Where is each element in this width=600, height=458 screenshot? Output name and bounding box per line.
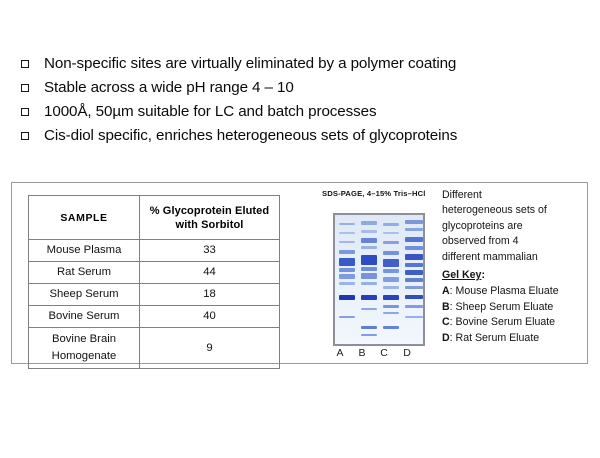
list-item-label: Stable across a wide pH range 4 – 10 [44, 76, 294, 100]
gel-lane-a [339, 215, 355, 344]
list-item: 1000Å, 50µm suitable for LC and batch pr… [18, 100, 578, 124]
glycoprotein-table: SAMPLE % Glycoprotein Eluted with Sorbit… [28, 195, 280, 369]
gel-key-item-c: C: Bovine Serum Eluate [442, 315, 582, 330]
table-row: Mouse Plasma 33 [29, 240, 280, 262]
table-row: Bovine Serum 40 [29, 306, 280, 328]
square-bullet-icon [18, 52, 44, 76]
gel-lane-label-b: B [355, 347, 369, 359]
gel-lane-c [383, 215, 399, 344]
cell-value: 9 [140, 328, 280, 369]
cell-value: 18 [140, 284, 280, 306]
table-row: Sheep Serum 18 [29, 284, 280, 306]
cell-value: 44 [140, 262, 280, 284]
gel-key-letter: A [442, 285, 450, 297]
list-item: Non-specific sites are virtually elimina… [18, 52, 578, 76]
gel-key-item-b: B: Sheep Serum Eluate [442, 300, 582, 315]
column-header-percent-eluted: % Glycoprotein Eluted with Sorbitol [140, 196, 280, 240]
gel-description: Different heterogeneous sets of glycopro… [442, 188, 582, 346]
gel-key-letter: B [442, 301, 450, 313]
square-bullet-icon [18, 124, 44, 148]
table-header-row: SAMPLE % Glycoprotein Eluted with Sorbit… [29, 196, 280, 240]
cell-value: 40 [140, 306, 280, 328]
cell-sample: Sheep Serum [29, 284, 140, 306]
gel-key-heading-text: Gel Key [442, 269, 481, 281]
table-row: Bovine Brain Homogenate 9 [29, 328, 280, 369]
list-item: Cis-diol specific, enriches heterogeneou… [18, 124, 578, 148]
gel-lane-labels: A B C D [333, 347, 421, 361]
gel-title: SDS-PAGE, 4–15% Tris–HCl [322, 189, 440, 198]
gel-key-label: : Mouse Plasma Eluate [450, 285, 559, 297]
list-item-label: Non-specific sites are virtually elimina… [44, 52, 456, 76]
bullet-list: Non-specific sites are virtually elimina… [18, 52, 578, 148]
description-line: glycoproteins are [442, 219, 582, 234]
list-item: Stable across a wide pH range 4 – 10 [18, 76, 578, 100]
gel-key-heading-colon: : [481, 269, 485, 281]
square-bullet-icon [18, 76, 44, 100]
list-item-label: 1000Å, 50µm suitable for LC and batch pr… [44, 100, 376, 124]
cell-value: 33 [140, 240, 280, 262]
cell-sample: Bovine Brain Homogenate [29, 328, 140, 369]
description-line: heterogeneous sets of [442, 203, 582, 218]
gel-lane-label-d: D [400, 347, 414, 359]
figure-frame: SAMPLE % Glycoprotein Eluted with Sorbit… [11, 182, 588, 364]
gel-key-label: : Sheep Serum Eluate [450, 301, 554, 313]
gel-key-label: : Bovine Serum Eluate [450, 316, 555, 328]
gel-key-heading: Gel Key: [442, 268, 582, 283]
gel-figure: SDS-PAGE, 4–15% Tris–HCl [322, 189, 434, 354]
description-line: different mammalian [442, 250, 582, 265]
table-row: Rat Serum 44 [29, 262, 280, 284]
gel-key-item-d: D: Rat Serum Eluate [442, 331, 582, 346]
cell-sample: Bovine Serum [29, 306, 140, 328]
square-bullet-icon [18, 100, 44, 124]
description-line: Different [442, 188, 582, 203]
gel-lane-label-c: C [377, 347, 391, 359]
gel-key-letter: D [442, 332, 450, 344]
cell-sample: Mouse Plasma [29, 240, 140, 262]
gel-lane-d [405, 215, 423, 344]
description-paragraph: Different heterogeneous sets of glycopro… [442, 188, 582, 265]
gel-image [333, 213, 425, 346]
gel-key-item-a: A: Mouse Plasma Eluate [442, 284, 582, 299]
description-line: observed from 4 [442, 234, 582, 249]
cell-sample: Rat Serum [29, 262, 140, 284]
column-header-sample: SAMPLE [29, 196, 140, 240]
list-item-label: Cis-diol specific, enriches heterogeneou… [44, 124, 457, 148]
gel-lane-label-a: A [333, 347, 347, 359]
gel-key-label: : Rat Serum Eluate [450, 332, 540, 344]
gel-key-letter: C [442, 316, 450, 328]
gel-lane-b [361, 215, 377, 344]
